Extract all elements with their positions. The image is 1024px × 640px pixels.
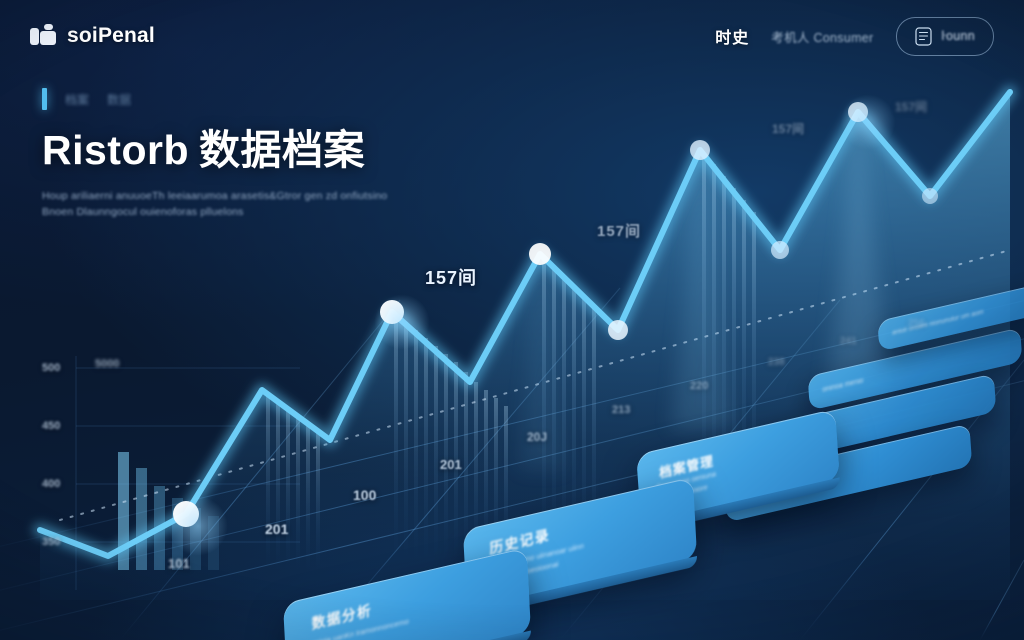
document-icon <box>915 27 932 46</box>
x-axis-tick-2: 201 <box>265 521 288 537</box>
info-bar-3-label: uelnoia nnnemi <box>778 426 828 447</box>
nav-action-label: ŀounn <box>942 29 975 43</box>
nav-item-consumer[interactable]: 考机人 Consumer <box>771 27 873 46</box>
x-axis-tick-8: 238 <box>768 357 785 368</box>
x-axis-tick-7: 220 <box>690 380 708 392</box>
x-axis-tick-10: 256 <box>908 318 925 329</box>
data-card-1-line-1: ruminia uanKn Iramonnoncemo <box>307 616 410 640</box>
nav-item-history[interactable]: 时史 <box>715 24 749 48</box>
page-title-en: Ristorb <box>42 127 189 173</box>
hero-subtitle-line-1: Houp ariliaerni anuuoeTh leeiaarumoa ara… <box>42 188 372 204</box>
data-card-3-line-2: uaninoeo laniore <box>657 483 708 505</box>
data-label-primary: 157间 <box>425 264 477 290</box>
data-label-faded-2: 157间 <box>895 98 927 115</box>
eyebrow-glyph-2: 数据 <box>107 91 131 108</box>
y-axis-tick-2: 450 <box>42 420 60 432</box>
y-axis-tick-1: 500 <box>42 362 60 374</box>
hero-block: 档案 数据 Ristorb数据档案 Houp ariliaerni anuuoe… <box>42 88 372 220</box>
x-axis-tick-6: 213 <box>612 404 630 416</box>
x-axis-tick-5: 20J <box>527 430 547 444</box>
info-bar-2[interactable]: uineo onnueuianna omon <box>724 423 973 522</box>
eyebrow-glyph-1: 档案 <box>65 91 89 108</box>
data-label-faded-1: 157间 <box>772 120 804 137</box>
data-card-3-line-1: Cnooamoo oeniuna <box>656 470 716 494</box>
data-card-2-title: 历史记录 <box>489 524 550 558</box>
data-card-3[interactable]: 档案管理 Cnooamoo oeniuna uaninoeo laniore <box>636 409 840 526</box>
data-card-3-title: 档案管理 <box>658 450 714 482</box>
trend-baseline <box>60 250 1010 520</box>
page-title: Ristorb数据档案 <box>42 128 372 174</box>
info-bar-4-label: oninoa menio <box>822 377 863 394</box>
info-bar-2-label: uineo onnueuianna omon <box>739 473 828 502</box>
data-card-2[interactable]: 历史记录 aniuii tanuoeno uiinanoar uiinn pei… <box>463 477 697 611</box>
info-bar-1-label: aniuii onoeni nionunulur um aom <box>892 309 984 337</box>
accent-bar <box>42 88 47 110</box>
data-card-1-title: 数据分析 <box>311 600 372 634</box>
hero-subtitle: Houp ariliaerni anuuoeTh leeiaarumoa ara… <box>42 188 372 221</box>
dashboard-hero-screen: soiPenal 时史 考机人 Consumer ŀounn 档案 数据 <box>0 0 1024 640</box>
app-logo-icon <box>30 24 56 48</box>
page-title-cn: 数据档案 <box>199 127 365 173</box>
x-axis-tick-9: 241 <box>840 336 857 347</box>
brand-name: soiPenal <box>67 24 155 48</box>
info-bar-1[interactable]: aniuii onoeni nionunulur um aom <box>877 278 1024 351</box>
brand-logo[interactable]: soiPenal <box>30 24 155 48</box>
x-axis-tick-4: 201 <box>440 457 462 472</box>
y-axis-tick-4: 350 <box>42 536 60 548</box>
nav-links: 时史 考机人 Consumer ŀounn <box>715 17 994 56</box>
y-axis-tick-3: 400 <box>42 478 60 490</box>
data-card-1[interactable]: 数据分析 ruminia uanKn Iramonnoncemo oniuela… <box>283 547 531 640</box>
data-label-secondary: 157间 <box>597 220 641 241</box>
hero-eyebrow: 档案 数据 <box>42 88 372 110</box>
nav-action-button[interactable]: ŀounn <box>896 17 994 56</box>
x-axis-tick-1: 101 <box>168 556 190 571</box>
hero-subtitle-line-2: Bnoen Dlaunngocul ouienoforas plluelons <box>42 204 372 220</box>
x-axis-tick-3: 100 <box>353 487 376 503</box>
bar-cluster-left <box>118 452 219 570</box>
info-bar-3[interactable]: uelnoia nnnemi <box>764 373 997 464</box>
data-card-2-line-2: peiiena nuln oeoioonai <box>485 558 559 586</box>
y-axis-top-label: 5000 <box>95 358 119 370</box>
data-card-2-line-1: aniuii tanuoeno uiinanoar uiinn <box>484 540 584 574</box>
top-navigation-bar: soiPenal 时史 考机人 Consumer ŀounn <box>0 0 1024 72</box>
